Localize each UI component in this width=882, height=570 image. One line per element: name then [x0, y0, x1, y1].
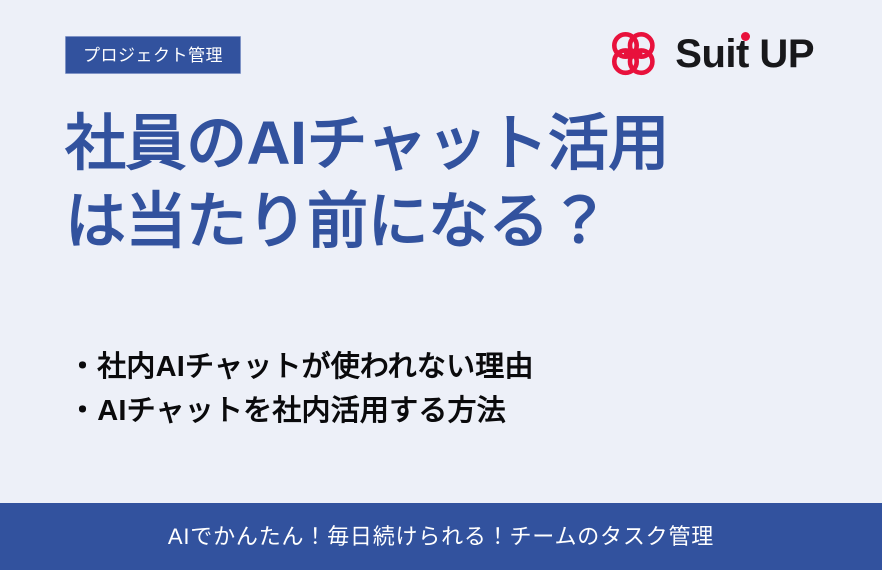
- list-item: ・ 社内AIチャットが使われない理由: [68, 345, 534, 389]
- headline-line-2: は当たり前になる？: [65, 182, 855, 260]
- bullet-marker-icon: ・: [68, 389, 97, 433]
- header-row: プロジェクト管理 Suit UP: [0, 0, 882, 104]
- suitup-flower-logo-icon: [605, 26, 661, 82]
- list-item: ・ AIチャットを社内活用する方法: [68, 389, 534, 433]
- headline-line-1: 社員のAIチャット活用: [65, 104, 855, 182]
- bullet-list: ・ 社内AIチャットが使われない理由 ・ AIチャットを社内活用する方法: [68, 345, 534, 433]
- category-badge-label: プロジェクト管理: [83, 47, 223, 64]
- brand-wordmark: Suit UP: [675, 34, 814, 74]
- footer-band: AIでかんたん！毎日続けられる！チームのタスク管理: [0, 503, 882, 570]
- page-title: 社員のAIチャット活用 は当たり前になる？: [65, 104, 855, 260]
- brand-logo: Suit UP: [605, 26, 814, 82]
- list-item-label: AIチャットを社内活用する方法: [97, 389, 506, 433]
- footer-tagline: AIでかんたん！毎日続けられる！チームのタスク管理: [168, 526, 714, 548]
- thumbnail-canvas: プロジェクト管理 Suit UP 社員のAI: [0, 0, 882, 570]
- list-item-label: 社内AIチャットが使われない理由: [97, 345, 533, 389]
- bullet-marker-icon: ・: [68, 345, 97, 389]
- category-badge: プロジェクト管理: [65, 36, 241, 74]
